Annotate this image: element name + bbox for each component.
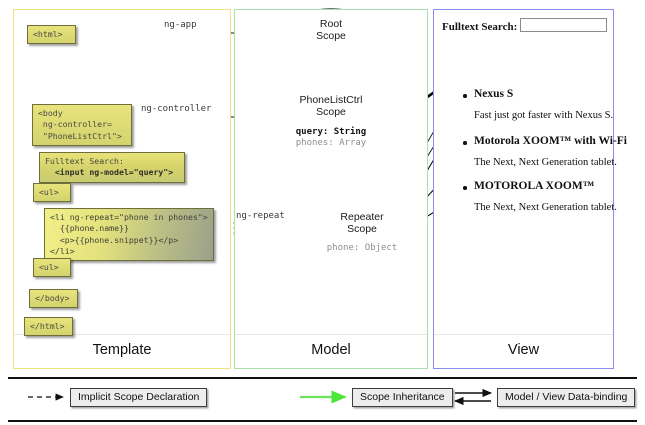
model-panel-title: Model — [235, 342, 427, 368]
fulltext-search-markup-line2: <input ng-model="query"> — [55, 167, 173, 177]
code-html-open-tag: <html> — [27, 25, 76, 44]
fulltext-search-markup-line1: Fulltext Search: — [45, 156, 124, 166]
code-body-open-tag: <body ng-controller= "PhoneListCtrl"> — [32, 104, 132, 146]
fulltext-search-label: Fulltext Search: — [442, 21, 517, 33]
fulltext-search-input[interactable] — [520, 18, 607, 32]
code-ul-open-tag: <ul> — [33, 183, 71, 202]
model-panel-divider — [235, 334, 427, 335]
list-bullet — [463, 186, 467, 190]
phone-item-snippet: The Next, Next Generation tablet. — [474, 157, 617, 168]
ng-controller-label: ng-controller — [141, 104, 211, 114]
code-body-close-tag: </body> — [29, 289, 78, 308]
phone-item-title: Nexus S — [474, 88, 513, 100]
phone-item-snippet: The Next, Next Generation tablet. — [474, 202, 617, 213]
model-panel: Model — [234, 9, 428, 369]
list-bullet — [463, 141, 467, 145]
phone-item-title: MOTOROLA XOOM™ — [474, 180, 594, 192]
diagram-canvas: Template Model View <html> <body ng-cont… — [0, 0, 645, 425]
legend-scope-inheritance: Scope Inheritance — [352, 388, 453, 407]
legend-model-view-data-binding: Model / View Data-binding — [497, 388, 635, 407]
code-ul-close-tag: <ul> — [33, 258, 71, 277]
code-li-ng-repeat-block: <li ng-repeat="phone in phones"> {{phone… — [44, 208, 214, 261]
legend-implicit-scope-declaration: Implicit Scope Declaration — [70, 388, 207, 407]
legend-bottom-rule — [8, 420, 637, 422]
phone-item-snippet: Fast just got faster with Nexus S. — [474, 110, 613, 121]
ng-repeat-label: ng-repeat — [236, 211, 285, 221]
phone-item-title: Motorola XOOM™ with Wi-Fi — [474, 135, 627, 147]
code-fulltext-search-markup: Fulltext Search: <input ng-model="query"… — [39, 152, 185, 183]
ng-app-label: ng-app — [164, 20, 197, 30]
legend-top-rule — [8, 377, 637, 379]
legend-arrow-double — [455, 393, 491, 401]
list-bullet — [463, 94, 467, 98]
template-panel-title: Template — [14, 342, 230, 368]
code-html-close-tag: </html> — [24, 317, 73, 336]
view-panel-divider — [434, 334, 613, 335]
view-panel-title: View — [434, 342, 613, 368]
